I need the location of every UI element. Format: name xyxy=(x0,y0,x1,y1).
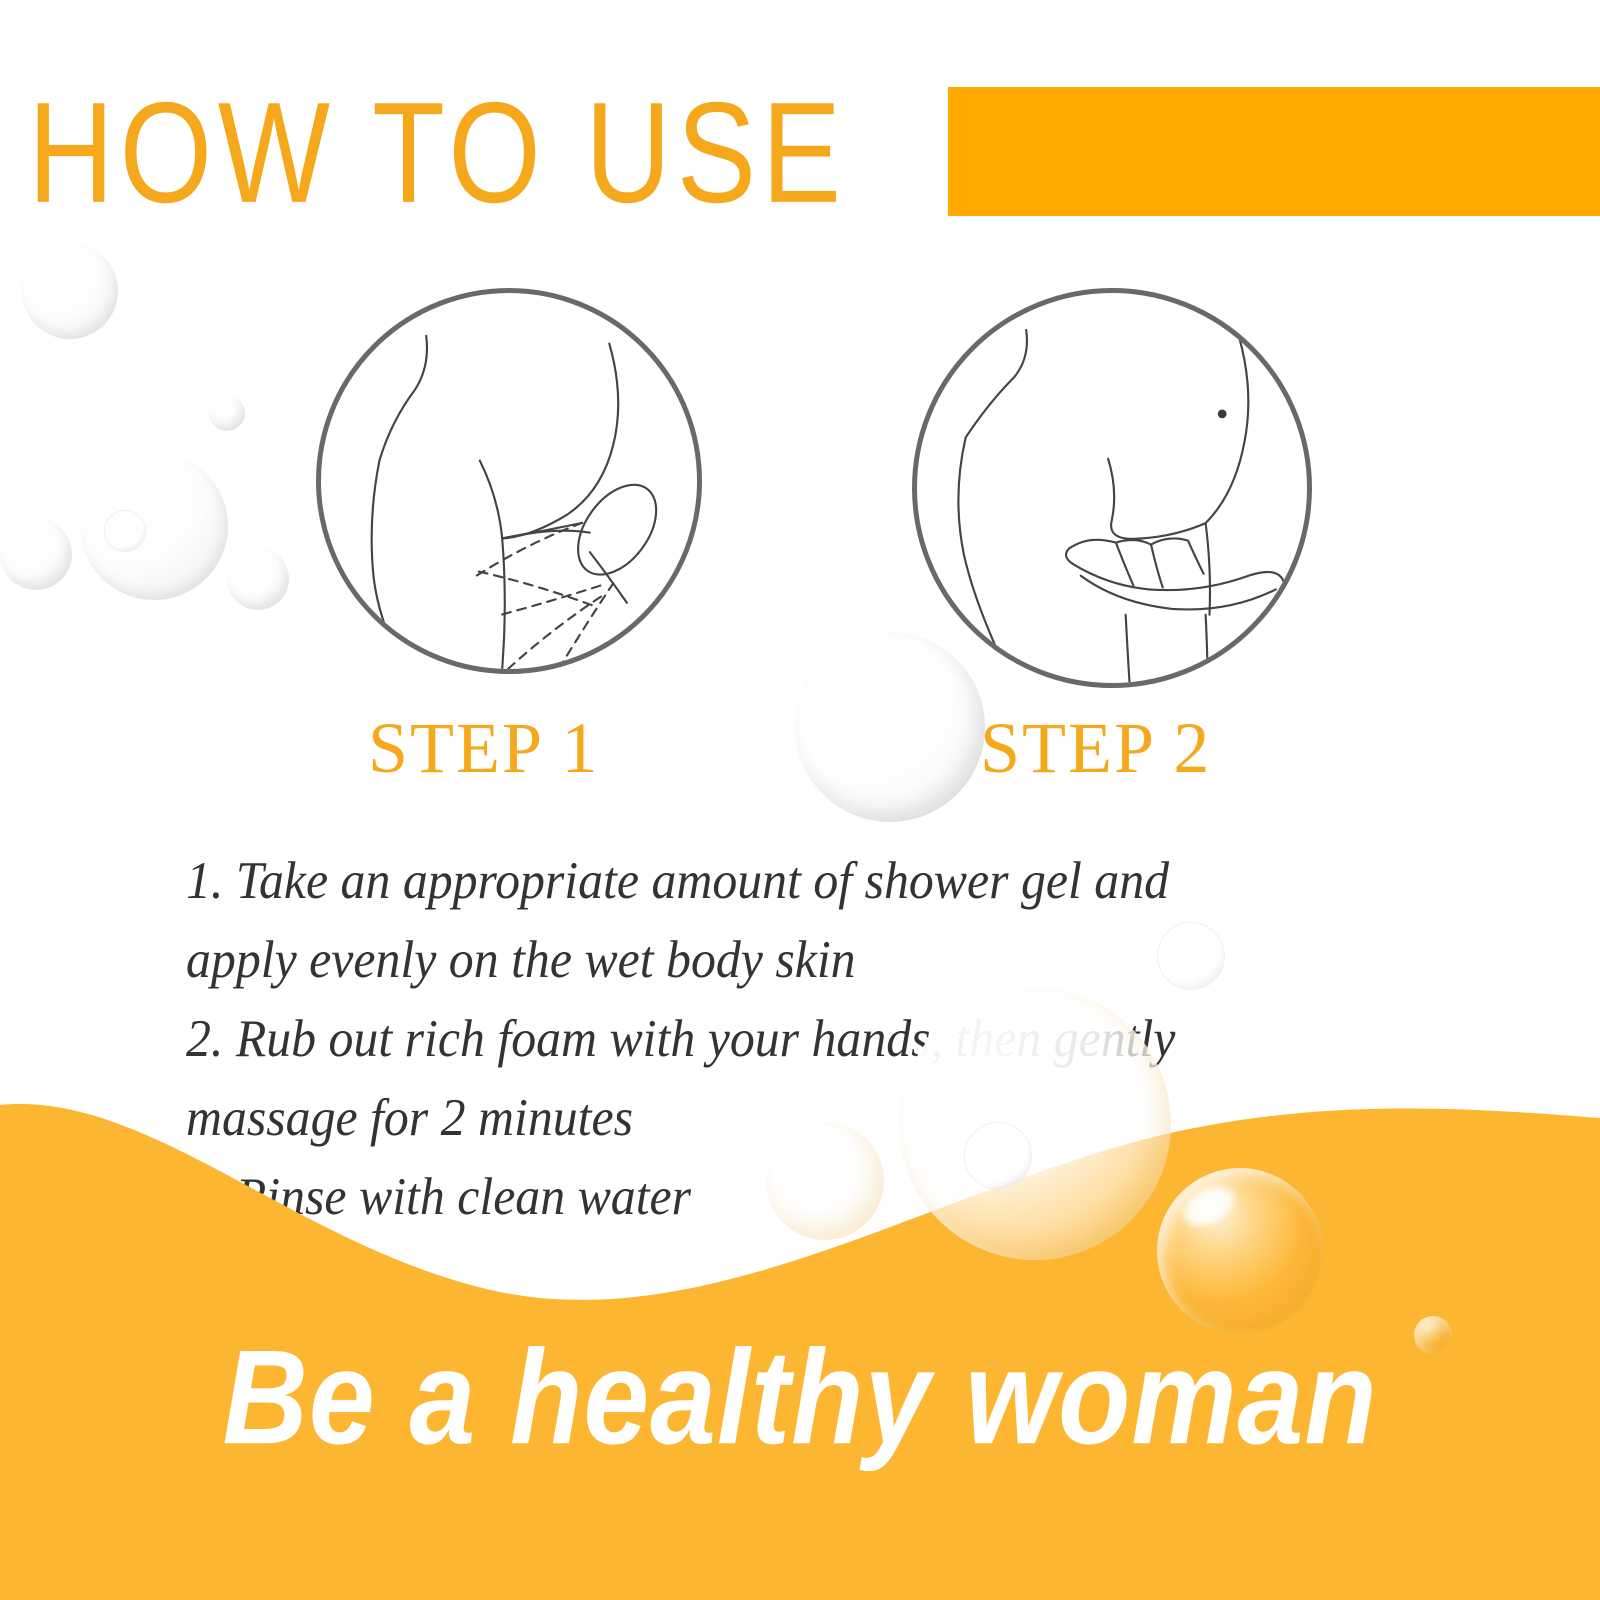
bubble-decoration xyxy=(22,243,118,339)
page-title: HOW TO USE xyxy=(28,82,847,225)
bubble-decoration xyxy=(0,518,72,590)
bubble-decoration xyxy=(80,452,228,600)
step-2-label: STEP 2 xyxy=(980,712,1211,784)
woman-cupped-hands-foam-icon xyxy=(917,293,1307,683)
woman-back-shower-spray-icon xyxy=(321,293,697,669)
instruction-line: apply evenly on the wet body skin xyxy=(186,921,1295,1000)
bubble-decoration xyxy=(227,548,289,610)
step-1-label: STEP 1 xyxy=(368,712,599,784)
infographic-canvas: HOW TO USE STEP 1 xyxy=(0,0,1600,1600)
instruction-line: 1. Take an appropriate amount of shower … xyxy=(186,842,1295,921)
bubble-decoration xyxy=(209,395,245,431)
footer-tagline: Be a healthy woman xyxy=(24,1330,1576,1464)
header-accent-bar xyxy=(948,87,1600,216)
bubble-decoration xyxy=(104,510,146,552)
step-2-illustration-circle xyxy=(912,288,1312,688)
step-1-illustration-circle xyxy=(316,288,702,674)
